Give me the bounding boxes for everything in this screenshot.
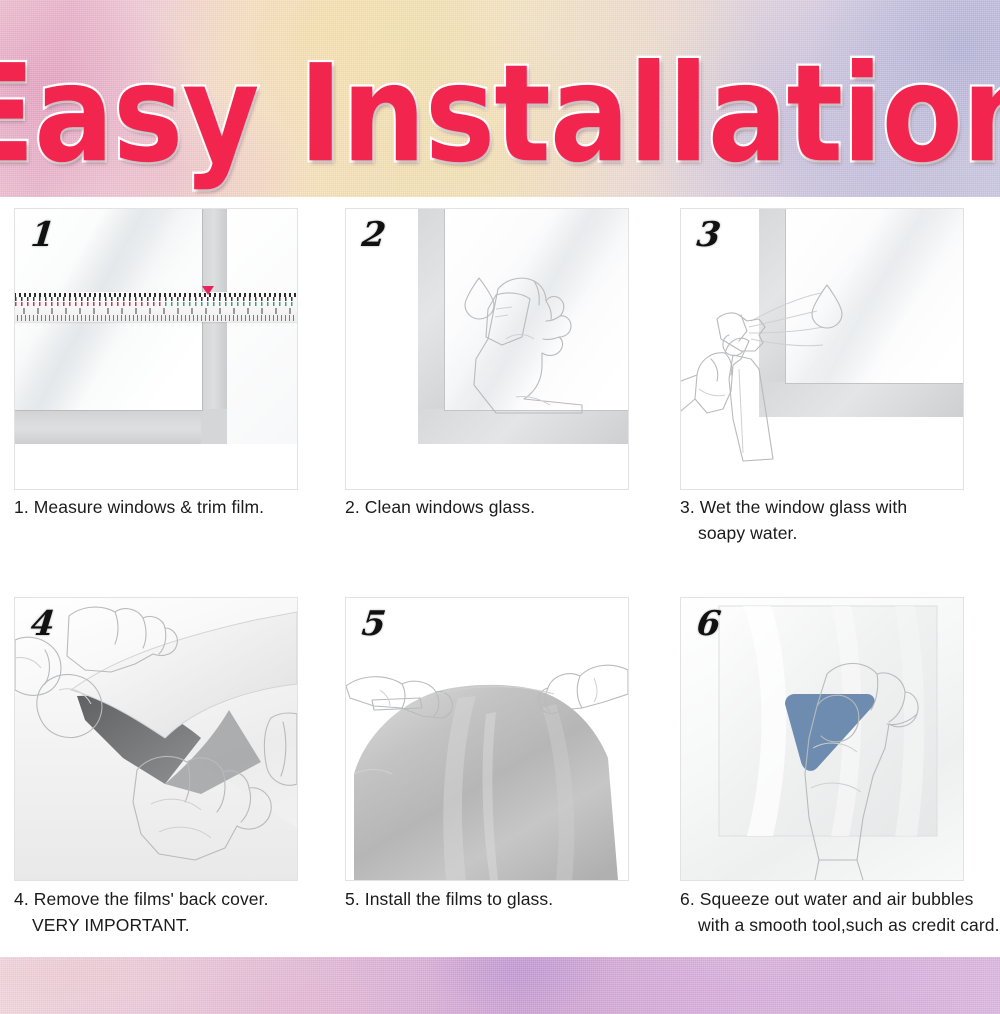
step-caption-6: 6. Squeeze out water and air bubbles wit… — [680, 887, 1000, 939]
step-caption-3-line2: soapy water. — [680, 521, 1000, 547]
step-caption-1: 1. Measure windows & trim film. — [14, 495, 314, 521]
step-illustration-3: 3 — [680, 208, 964, 490]
left-fingers — [15, 637, 61, 695]
step-number-1: 1 — [29, 215, 57, 255]
page-title-container: Easy Installation — [0, 56, 1000, 174]
installation-instructions-page: Easy Installation — [0, 0, 1000, 1014]
steps-content-area: 1 1. Measure windows & trim film. — [0, 197, 1000, 957]
step-cell-4: 4 4. Remove the films' back cover. VERY … — [0, 587, 333, 957]
step-caption-5: 5. Install the films to glass. — [345, 887, 645, 913]
step-illustration-6: 6 — [680, 597, 964, 881]
bottom-watercolor-background — [0, 957, 1000, 1014]
tape-tick-row-secondary — [14, 315, 298, 321]
step-number-4: 4 — [29, 604, 57, 644]
window-frame-corner — [201, 409, 227, 444]
water-droplet-icon — [465, 278, 494, 319]
step-caption-2-line1: 2. Clean windows glass. — [345, 497, 535, 517]
steps-grid: 1 1. Measure windows & trim film. — [0, 197, 1000, 957]
tape-number-row — [14, 308, 298, 314]
steps-row-2: 4 4. Remove the films' back cover. VERY … — [0, 587, 1000, 957]
water-droplet-icon — [812, 285, 842, 328]
step-number-6: 6 — [695, 604, 723, 644]
spray-nozzle — [717, 313, 765, 351]
steps-row-1: 1 1. Measure windows & trim film. — [0, 197, 1000, 587]
spray-mist-line — [749, 327, 823, 333]
step-caption-6-line1: 6. Squeeze out water and air bubbles — [680, 889, 974, 909]
step-cell-1: 1 1. Measure windows & trim film. — [0, 197, 333, 587]
hand-with-squeegee-drawing — [681, 598, 963, 880]
measuring-tape-icon — [14, 292, 298, 322]
page-title: Easy Installation — [0, 48, 1000, 183]
step-cell-5: 5 5. Install the films to glass. — [333, 587, 666, 957]
step-illustration-5: 5 — [345, 597, 629, 881]
step-illustration-4: 4 — [14, 597, 298, 881]
step-cell-6: 6 6. Squeeze out water and air bubbles w… — [666, 587, 999, 957]
step-cell-3: 3 3. Wet the window glass with soapy wat… — [666, 197, 999, 587]
step-caption-3-line1: 3. Wet the window glass with — [680, 497, 907, 517]
step-caption-3: 3. Wet the window glass with soapy water… — [680, 495, 1000, 547]
step-caption-4-line2: VERY IMPORTANT. — [14, 913, 314, 939]
outer-glass-area — [227, 209, 297, 444]
step-caption-1-line1: 1. Measure windows & trim film. — [14, 497, 264, 517]
right-fingers — [264, 713, 297, 785]
step-caption-2: 2. Clean windows glass. — [345, 495, 645, 521]
step-illustration-1: 1 — [14, 208, 298, 490]
step-number-5: 5 — [360, 604, 388, 644]
tape-tick-row-green — [165, 302, 298, 306]
step-caption-4-line1: 4. Remove the films' back cover. — [14, 889, 269, 909]
step-caption-4: 4. Remove the films' back cover. VERY IM… — [14, 887, 314, 939]
step-caption-6-line2: with a smooth tool,such as credit card. — [680, 913, 1000, 939]
step-number-2: 2 — [360, 215, 388, 255]
tape-measure-marker-icon — [202, 286, 214, 295]
spray-bottle-drawing — [681, 209, 963, 490]
hands-applying-film-drawing — [346, 598, 628, 880]
step-number-3: 3 — [695, 215, 723, 255]
step-caption-5-line1: 5. Install the films to glass. — [345, 889, 553, 909]
window-frame-horizontal — [15, 409, 227, 444]
tape-tick-row-red — [14, 302, 165, 306]
hands-peeling-film-drawing — [15, 598, 297, 880]
step-cell-2: 2 2. Clean windows glass. — [333, 197, 666, 587]
hand-and-arm — [474, 278, 582, 413]
spray-mist-line — [751, 293, 821, 321]
hand-wiping-cloth-drawing — [346, 209, 628, 489]
paper-grain-texture — [0, 957, 1000, 1014]
tape-tick-row-primary — [14, 297, 298, 301]
step-illustration-2: 2 — [345, 208, 629, 490]
bottle-body — [729, 355, 773, 461]
